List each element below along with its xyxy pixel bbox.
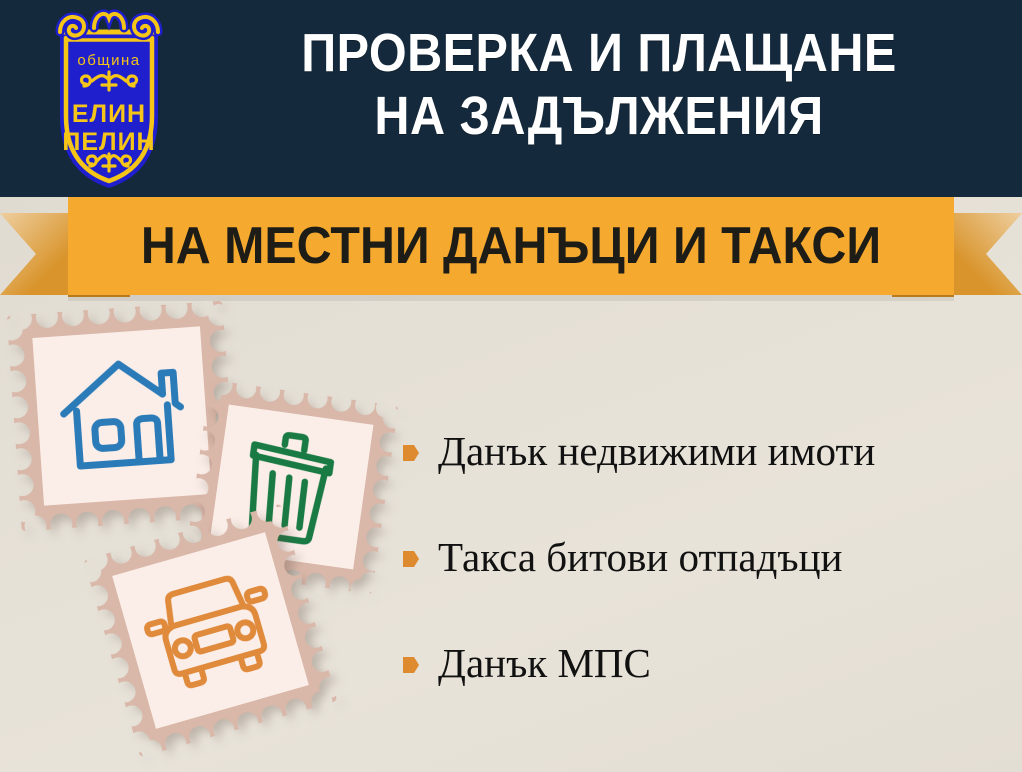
arrow-bullet-icon [402, 654, 420, 676]
arrow-bullet-icon [402, 442, 420, 464]
list-item[interactable]: Данък МПС [402, 636, 1012, 690]
page-title: ПРОВЕРКА И ПЛАЩАНЕ НА ЗАДЪЛЖЕНИЯ [231, 22, 967, 147]
list-item[interactable]: Такса битови отпадъци [402, 530, 1012, 584]
subtitle-ribbon: НА МЕСТНИ ДАНЪЦИ И ТАКСИ [0, 197, 1022, 297]
ribbon-banner: НА МЕСТНИ ДАНЪЦИ И ТАКСИ [68, 197, 954, 295]
svg-text:община: община [77, 52, 140, 69]
svg-text:ЕЛИН: ЕЛИН [72, 100, 146, 128]
poster-header: община ЕЛИН ПЕЛИН [0, 0, 1022, 197]
list-item[interactable]: Данък недвижими имоти [402, 424, 1012, 478]
ribbon-label: НА МЕСТНИ ДАНЪЦИ И ТАКСИ [141, 216, 881, 276]
arrow-bullet-icon [402, 548, 420, 570]
list-item-label: Такса битови отпадъци [438, 537, 842, 578]
list-item-label: Данък МПС [438, 643, 651, 684]
svg-text:ПЕЛИН: ПЕЛИН [62, 128, 155, 156]
poster-canvas: община ЕЛИН ПЕЛИН [0, 0, 1022, 772]
tax-type-list: Данък недвижими имоти Такса битови отпад… [402, 424, 1012, 742]
stamp-illustration-group [0, 300, 430, 772]
list-item-label: Данък недвижими имоти [438, 431, 875, 472]
municipality-logo: община ЕЛИН ПЕЛИН [34, 4, 184, 194]
